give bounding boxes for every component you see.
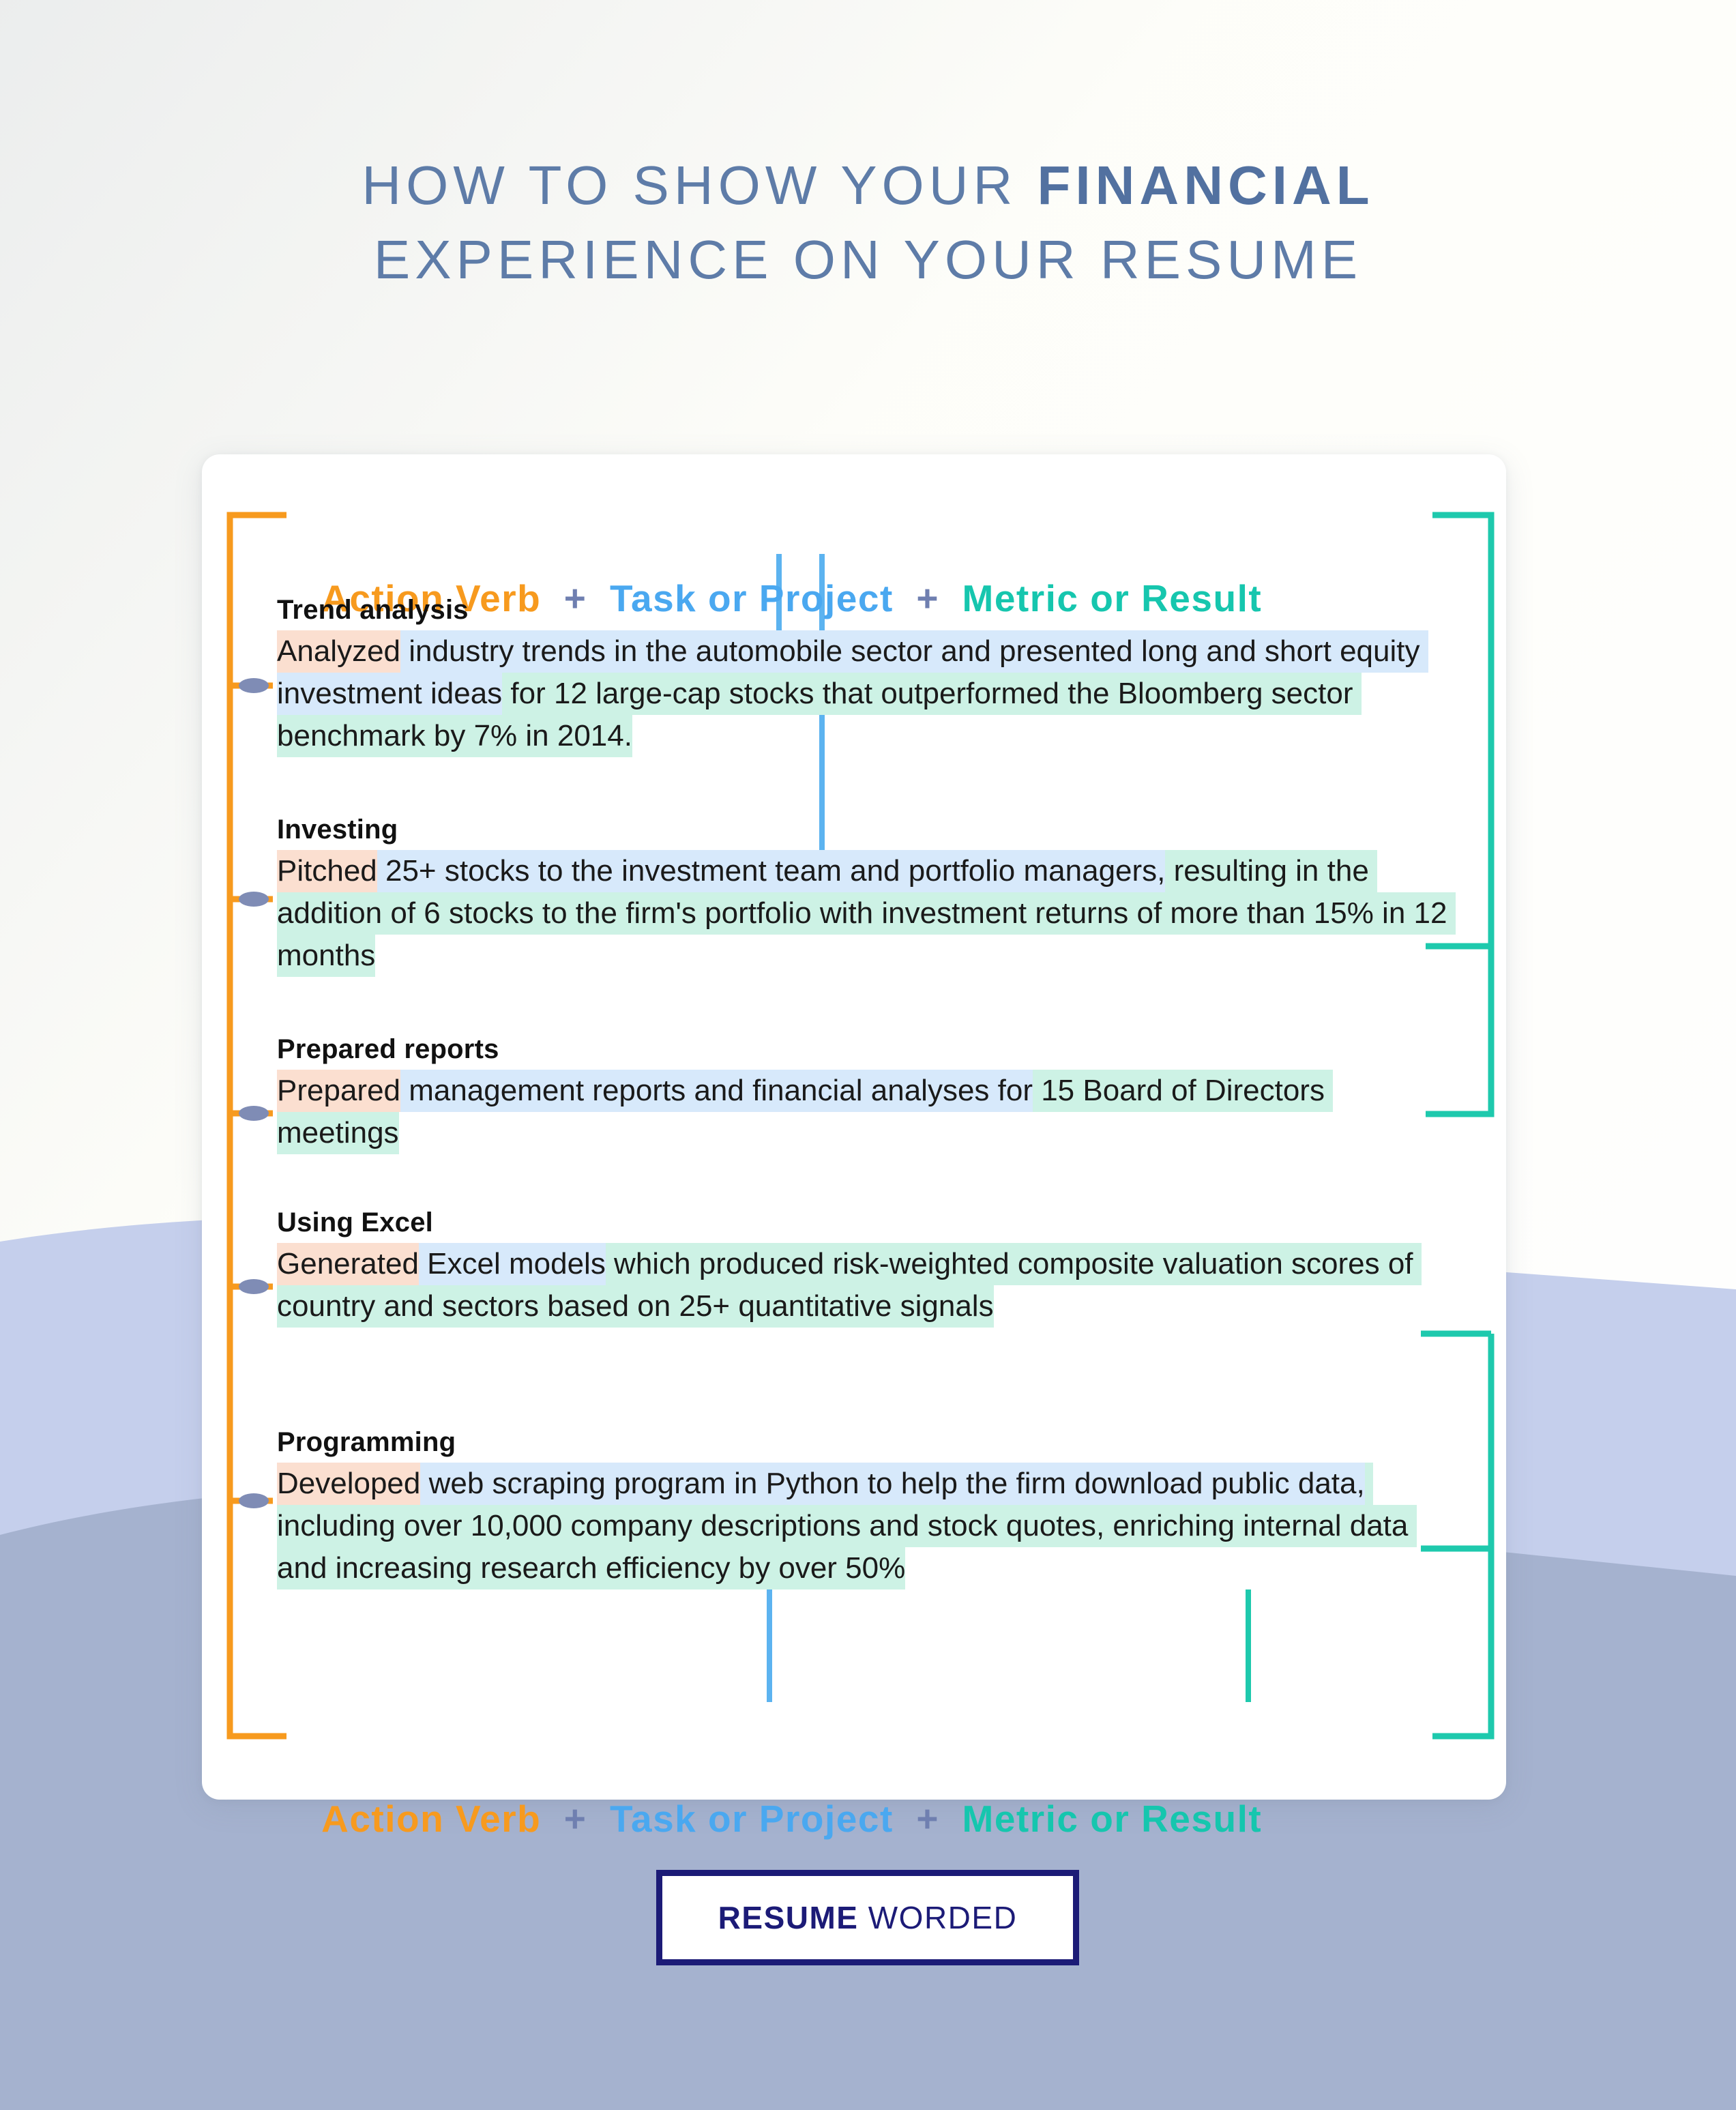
bullet-item: Investing Pitched 25+ stocks to the inve… xyxy=(277,816,1450,977)
bullet-heading: Investing xyxy=(277,816,1450,843)
bullet-text: Developed web scraping program in Python… xyxy=(277,1463,1450,1589)
bullet-heading: Programming xyxy=(277,1428,1450,1456)
bullet-heading: Prepared reports xyxy=(277,1036,1450,1063)
bullet-text: Generated Excel models which produced ri… xyxy=(277,1243,1450,1328)
bullet-heading: Trend analysis xyxy=(277,596,1450,624)
bullet-task: web scraping program in Python to help t… xyxy=(420,1463,1364,1505)
bullet-text: Analyzed industry trends in the automobi… xyxy=(277,630,1450,757)
bullet-text: Prepared management reports and financia… xyxy=(277,1070,1450,1154)
bullet-item: Programming Developed web scraping progr… xyxy=(277,1428,1450,1589)
bullet-task: 25+ stocks to the investment team and po… xyxy=(377,850,1166,892)
resume-worded-logo: RESUME WORDED xyxy=(656,1870,1079,1965)
logo-text-normal: WORDED xyxy=(858,1900,1017,1935)
bullet-item: Using Excel Generated Excel models which… xyxy=(277,1209,1450,1328)
legend-bottom: Action Verb + Task or Project + Metric o… xyxy=(0,1710,1736,1797)
bullet-verb: Pitched xyxy=(277,850,377,892)
bullet-verb: Generated xyxy=(277,1243,419,1285)
legend-plus-1-bottom: + xyxy=(541,1798,610,1840)
bullet-verb: Analyzed xyxy=(277,630,400,673)
bullet-item: Trend analysis Analyzed industry trends … xyxy=(277,596,1450,757)
bullet-task: management reports and financial analyse… xyxy=(400,1070,1033,1112)
logo-text: RESUME WORDED xyxy=(718,1899,1018,1936)
bullet-item: Prepared reports Prepared management rep… xyxy=(277,1036,1450,1154)
legend-action-verb-bottom: Action Verb xyxy=(321,1798,541,1840)
legend-task-or-project-bottom: Task or Project xyxy=(610,1798,894,1840)
bullet-heading: Using Excel xyxy=(277,1209,1450,1236)
logo-text-bold: RESUME xyxy=(718,1900,859,1935)
legend-plus-2-bottom: + xyxy=(894,1798,962,1840)
bullet-text: Pitched 25+ stocks to the investment tea… xyxy=(277,850,1450,977)
bullet-verb: Developed xyxy=(277,1463,420,1505)
bullet-task: Excel models xyxy=(419,1243,606,1285)
bullet-verb: Prepared xyxy=(277,1070,400,1112)
legend-metric-or-result-bottom: Metric or Result xyxy=(962,1798,1263,1840)
